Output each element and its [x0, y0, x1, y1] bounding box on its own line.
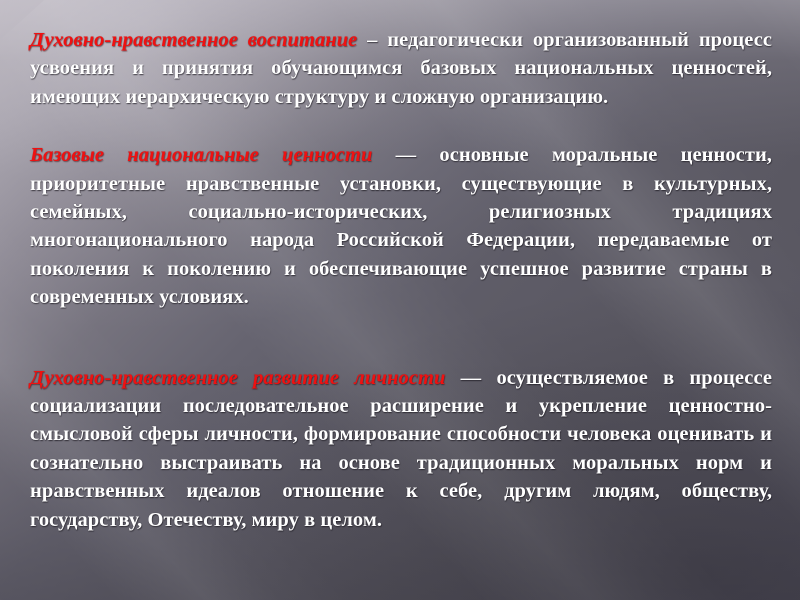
definition-paragraph-spiritual-moral-education: Духовно-нравственное воспитание – педаго… — [30, 26, 772, 111]
definition-separator-dash-2: — — [372, 144, 439, 166]
definition-paragraph-spiritual-moral-development: Духовно-нравственное развитие личности —… — [30, 364, 772, 534]
defined-term-spiritual-moral-education: Духовно-нравственное воспитание — [30, 29, 357, 51]
definition-separator-dash-3: — — [445, 367, 496, 389]
definition-body-spiritual-moral-development: осуществляемое в процессе социализации п… — [30, 367, 772, 531]
definition-body-basic-national-values: основные моральные ценности, приоритетны… — [30, 144, 772, 308]
defined-term-basic-national-values: Базовые национальные ценности — [30, 144, 372, 166]
defined-term-spiritual-moral-development: Духовно-нравственное развитие личности — [30, 367, 445, 389]
presentation-slide: Духовно-нравственное воспитание – педаго… — [0, 0, 800, 600]
definition-paragraph-basic-national-values: Базовые национальные ценности — основные… — [30, 141, 772, 311]
definition-separator-dash-1: – — [357, 29, 387, 51]
slide-text-content: Духовно-нравственное воспитание – педаго… — [30, 26, 772, 534]
